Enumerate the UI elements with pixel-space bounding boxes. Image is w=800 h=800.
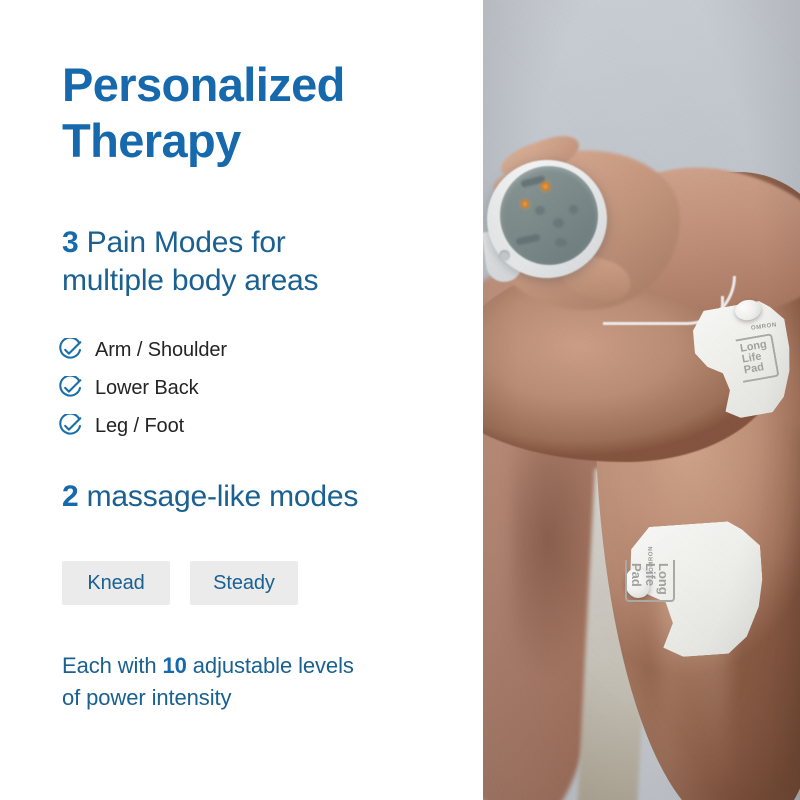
electrode-pad-label-upper: Long Life Pad — [735, 333, 779, 382]
check-circle-icon — [58, 414, 82, 438]
pad-label-line-3: Pad — [630, 563, 643, 595]
massage-modes-subheading: 2 massage-like modes — [62, 478, 482, 516]
chip-steady[interactable]: Steady — [190, 561, 298, 605]
tens-unit-button — [555, 238, 567, 247]
pad-label-line-1: Long — [657, 563, 670, 595]
pain-modes-text-line-2: multiple body areas — [62, 262, 462, 300]
list-item: Leg / Foot — [58, 410, 458, 442]
tens-unit-button — [553, 218, 564, 228]
tens-unit-button — [569, 205, 578, 214]
list-item: Arm / Shoulder — [58, 334, 458, 366]
massage-mode-chips: Knead Steady — [62, 561, 318, 605]
footnote-pre: Each with — [62, 653, 163, 678]
pad-label-line-2: Life — [644, 563, 657, 595]
list-item-label: Lower Back — [95, 376, 199, 400]
body-areas-checklist: Arm / Shoulder Lower Back Leg / Foot — [58, 334, 458, 448]
check-circle-icon — [58, 376, 82, 400]
tens-unit-led-indicator — [521, 200, 529, 208]
pad-label-line-3: Pad — [743, 361, 771, 377]
list-item-label: Arm / Shoulder — [95, 338, 227, 362]
headline-line-1: Personalized — [62, 58, 345, 111]
photo-calf-shadow — [783, 430, 800, 800]
headline-line-2: Therapy — [62, 113, 462, 169]
intensity-footnote: Each with 10 adjustable levels of power … — [62, 650, 462, 714]
footnote-count: 10 — [163, 653, 187, 678]
left-text-panel: Personalized Therapy 3 Pain Modes for mu… — [0, 0, 483, 800]
pain-modes-count: 3 — [62, 226, 79, 259]
list-item: Lower Back — [58, 372, 458, 404]
massage-modes-count: 2 — [62, 480, 79, 513]
massage-modes-text: massage-like modes — [79, 480, 359, 513]
tens-unit-led-indicator — [541, 182, 550, 191]
list-item-label: Leg / Foot — [95, 414, 184, 438]
footnote-post: adjustable levels — [187, 653, 354, 678]
pain-modes-text: Pain Modes for — [79, 226, 286, 259]
page-title: Personalized Therapy — [62, 57, 462, 169]
product-feature-card: Personalized Therapy 3 Pain Modes for mu… — [0, 0, 800, 800]
tens-unit-port — [499, 250, 510, 261]
pain-modes-subheading: 3 Pain Modes for multiple body areas — [62, 224, 462, 300]
check-circle-icon — [58, 338, 82, 362]
tens-unit-button — [535, 206, 545, 215]
footnote-line-2: of power intensity — [62, 682, 462, 714]
electrode-pad-label-lower: Long Life Pad — [625, 560, 675, 602]
chip-knead[interactable]: Knead — [62, 561, 170, 605]
product-lifestyle-photo: OMRON Long Life Pad OMRON Long Life Pad — [483, 0, 800, 800]
